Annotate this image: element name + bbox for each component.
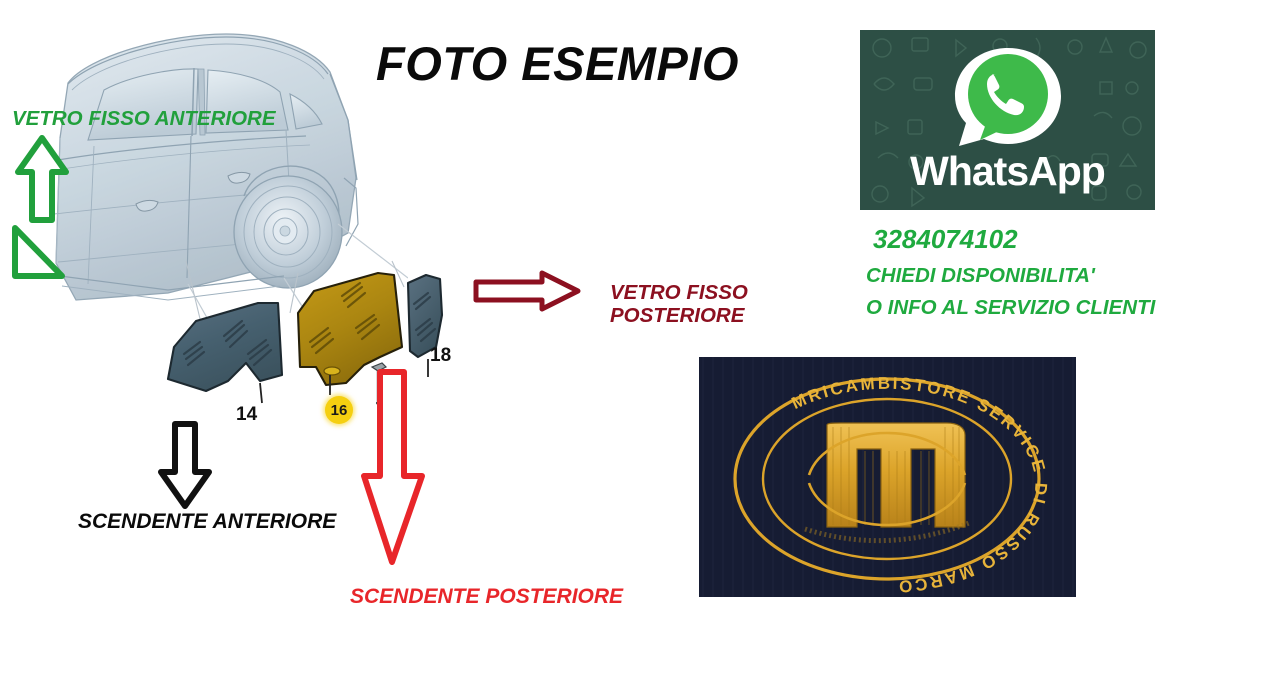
- contact-line-2: O INFO AL SERVIZIO CLIENTI: [866, 296, 1155, 320]
- up-arrow-green: [14, 134, 70, 224]
- right-arrow-dark-red: [472, 270, 582, 312]
- part-number-14: 14: [236, 404, 257, 426]
- triangle-marker-green: [10, 224, 66, 282]
- down-arrow-black: [155, 420, 215, 510]
- label-vetro-fisso-posteriore-line1: VETRO FISSO: [610, 282, 748, 305]
- label-vetro-fisso-posteriore: VETRO FISSO POSTERIORE: [610, 282, 748, 328]
- part-number-16-badge: 16: [325, 396, 353, 424]
- contact-phone-number[interactable]: 3284074102: [873, 224, 1018, 255]
- shop-logo-banner: MRICAMBISTORE SERVICE DI RUSSO MARCO: [699, 357, 1076, 597]
- contact-line-1: CHIEDI DISPONIBILITA': [866, 264, 1095, 288]
- shop-logo-emblem: MRICAMBISTORE SERVICE DI RUSSO MARCO: [699, 357, 1076, 597]
- label-vetro-fisso-anteriore: VETRO FISSO ANTERIORE: [12, 108, 276, 131]
- label-scendente-anteriore: SCENDENTE ANTERIORE: [78, 510, 336, 534]
- screenshot-root: 14 17 18 16 FOTO ESEMPIO VETRO FISSO ANT…: [0, 0, 1264, 678]
- part-number-18: 18: [430, 345, 451, 367]
- whatsapp-wordmark: WhatsApp: [860, 148, 1155, 195]
- exploded-glass-parts: [150, 255, 490, 430]
- whatsapp-icon: [949, 44, 1067, 152]
- page-title: FOTO ESEMPIO: [376, 36, 739, 91]
- label-scendente-posteriore: SCENDENTE POSTERIORE: [350, 585, 623, 609]
- down-arrow-red: [358, 368, 428, 568]
- label-vetro-fisso-posteriore-line2: POSTERIORE: [610, 305, 748, 328]
- whatsapp-banner[interactable]: WhatsApp: [860, 30, 1155, 210]
